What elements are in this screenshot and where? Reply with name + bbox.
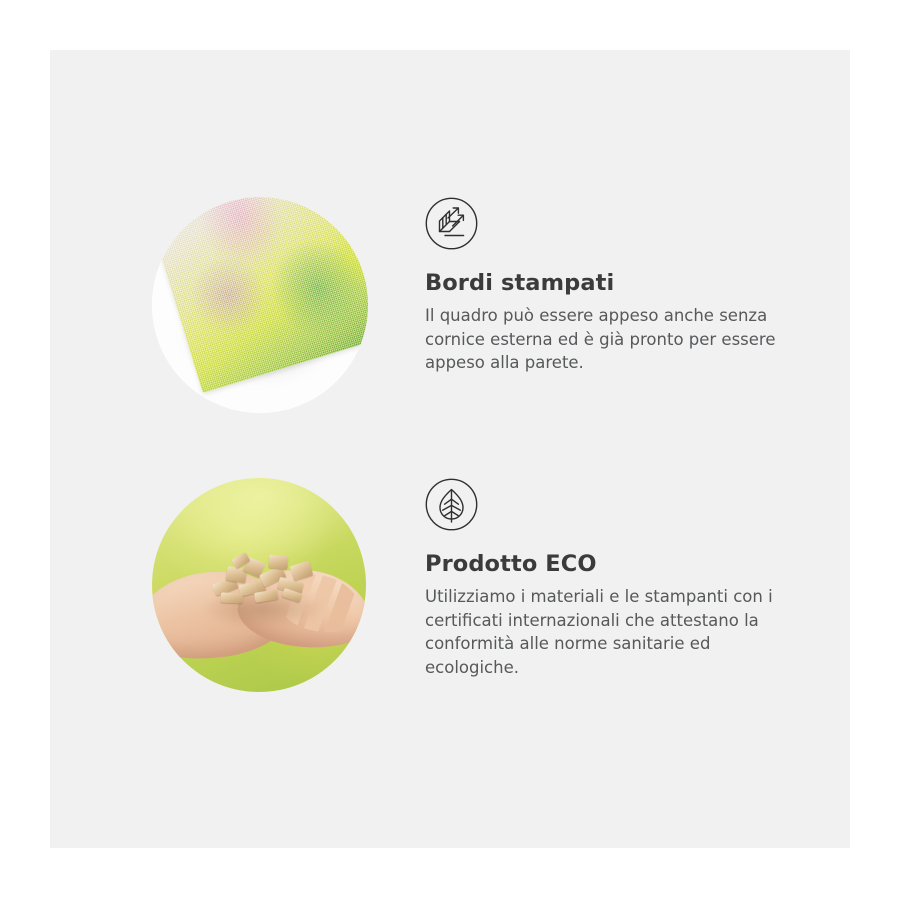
feature-title: Bordi stampati [425,270,825,297]
content-panel: Bordi stampati Il quadro può essere appe… [50,50,850,848]
feature-text-eco-product: Prodotto ECO Utilizziamo i materiali e l… [425,478,825,679]
canvas-corner-photo-circle [152,197,368,413]
leaf-icon [425,478,478,531]
feature-title: Prodotto ECO [425,551,825,578]
feature-block-printed-edges: Bordi stampati Il quadro può essere appe… [50,197,850,477]
wood-chips-photo [152,478,366,692]
canvas-corner-photo [152,197,368,413]
feature-block-eco-product: Prodotto ECO Utilizziamo i materiali e l… [50,478,850,758]
canvas-scene [152,197,368,413]
printed-edges-icon [425,197,478,250]
feature-text-printed-edges: Bordi stampati Il quadro può essere appe… [425,197,825,375]
wood-chips-pile [206,548,329,618]
feature-description: Utilizziamo i materiali e le stampanti c… [425,585,797,679]
product-feature-page: Bordi stampati Il quadro può essere appe… [0,0,900,900]
wood-chips-photo-circle [152,478,366,692]
feature-description: Il quadro può essere appeso anche senza … [425,304,797,375]
meadow-background [152,478,366,692]
